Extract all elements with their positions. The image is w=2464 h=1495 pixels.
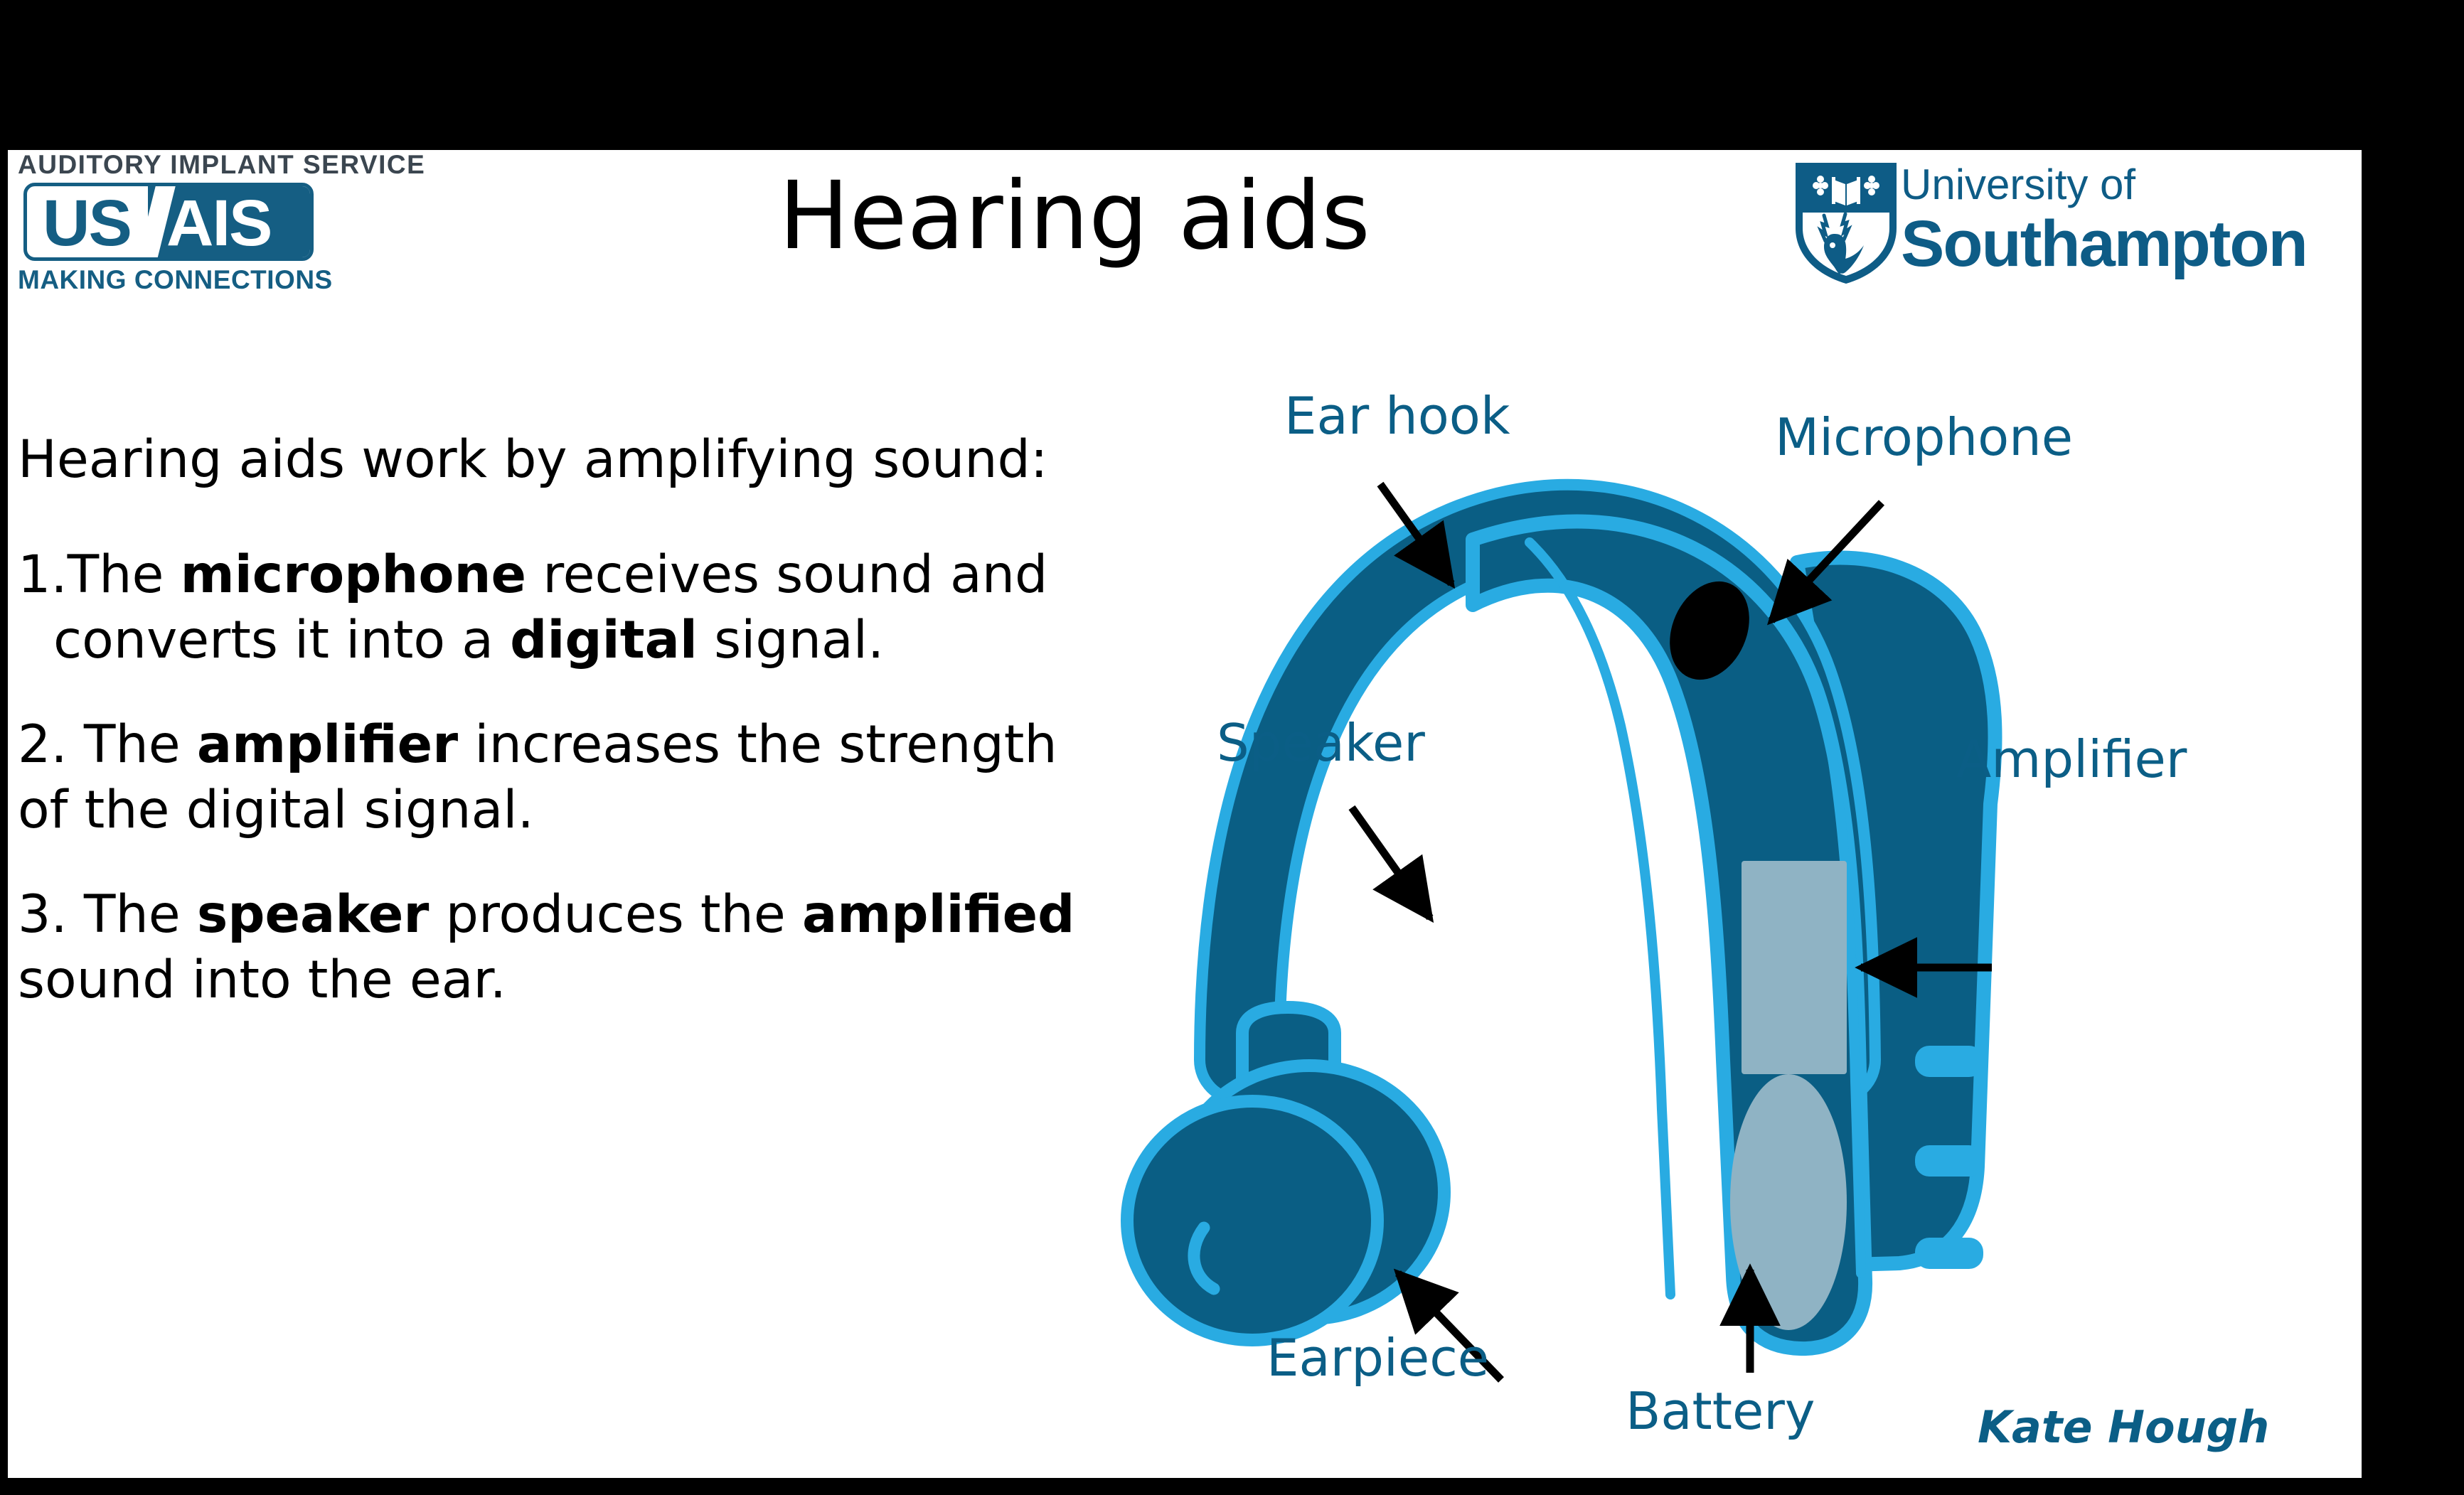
intro-paragraph: Hearing aids work by amplifying sound: (18, 427, 1077, 493)
usais-mark-left: US (43, 189, 131, 257)
usais-bottom-text: MAKING CONNECTIONS (18, 265, 324, 295)
list-text-2-b: amplifier (197, 714, 458, 775)
list-item-1: 1.The microphone receives sound and conv… (18, 542, 1077, 673)
shield-book-stag-icon (1793, 160, 1899, 286)
amplifier-chip (1742, 861, 1847, 1074)
slide-canvas: AUDITORY IMPLANT SERVICE US AIS MAKING C… (8, 150, 2362, 1478)
label-speaker: Speaker (1217, 715, 1425, 771)
control-tab-1 (1915, 1046, 1983, 1077)
spacer (18, 673, 1077, 712)
label-amplifier: Amplifier (1956, 732, 2187, 787)
control-tab-3 (1915, 1238, 1983, 1269)
list-text-2-a: The (68, 714, 197, 775)
list-number-1: 1. (18, 545, 68, 605)
usais-top-text: AUDITORY IMPLANT SERVICE (18, 150, 324, 180)
speaker-arrow (1352, 808, 1430, 918)
southampton-line2: Southampton (1901, 208, 2356, 279)
list-text-1-b: microphone (181, 545, 526, 605)
southampton-logo: University of Southampton (1793, 159, 2354, 294)
usais-logo: AUDITORY IMPLANT SERVICE US AIS MAKING C… (18, 150, 324, 301)
list-text-3-a: The (68, 884, 197, 945)
list-text-1-a: The (68, 545, 181, 605)
list-item-2: 2. The amplifier increases the strength … (18, 712, 1077, 843)
hearing-aid-illustration (1074, 349, 2362, 1478)
list-text-3-e: sound into the ear. (18, 950, 506, 1010)
southampton-line1: University of (1901, 161, 2356, 208)
list-text-3-b: speaker (197, 884, 430, 945)
usais-wordmark: US AIS (23, 183, 314, 261)
author-credit: Kate Hough (1978, 1401, 2269, 1453)
list-text-3-c: produces the (429, 884, 802, 945)
list-text-3-d: amplified (802, 884, 1075, 945)
earpiece-front-disc (1127, 1101, 1377, 1340)
control-tab-2 (1915, 1145, 1983, 1177)
body-text-column: Hearing aids work by amplifying sound: 1… (18, 427, 1077, 1013)
spacer (18, 493, 1077, 542)
label-microphone: Microphone (1775, 409, 2073, 465)
hearing-aid-diagram: Ear hook Microphone Speaker Amplifier Ea… (1074, 349, 2362, 1478)
slide-header: AUDITORY IMPLANT SERVICE US AIS MAKING C… (8, 150, 2362, 317)
label-battery: Battery (1626, 1383, 1815, 1439)
body-seam-line (1530, 542, 1670, 1295)
list-text-1-d: digital (510, 610, 698, 670)
southampton-wordmark: University of Southampton (1901, 161, 2356, 279)
page-title: Hearing aids (506, 156, 1643, 277)
list-text-1-e: signal. (698, 610, 884, 670)
list-number-2: 2. (18, 714, 68, 775)
label-earpiece: Earpiece (1266, 1330, 1489, 1386)
label-ear-hook: Ear hook (1284, 388, 1510, 444)
list-number-3: 3. (18, 884, 68, 945)
list-item-3: 3. The speaker produces the amplified so… (18, 882, 1077, 1013)
hearing-aid-device (1127, 522, 1995, 1349)
spacer (18, 843, 1077, 882)
usais-mark-right: AIS (166, 189, 271, 257)
